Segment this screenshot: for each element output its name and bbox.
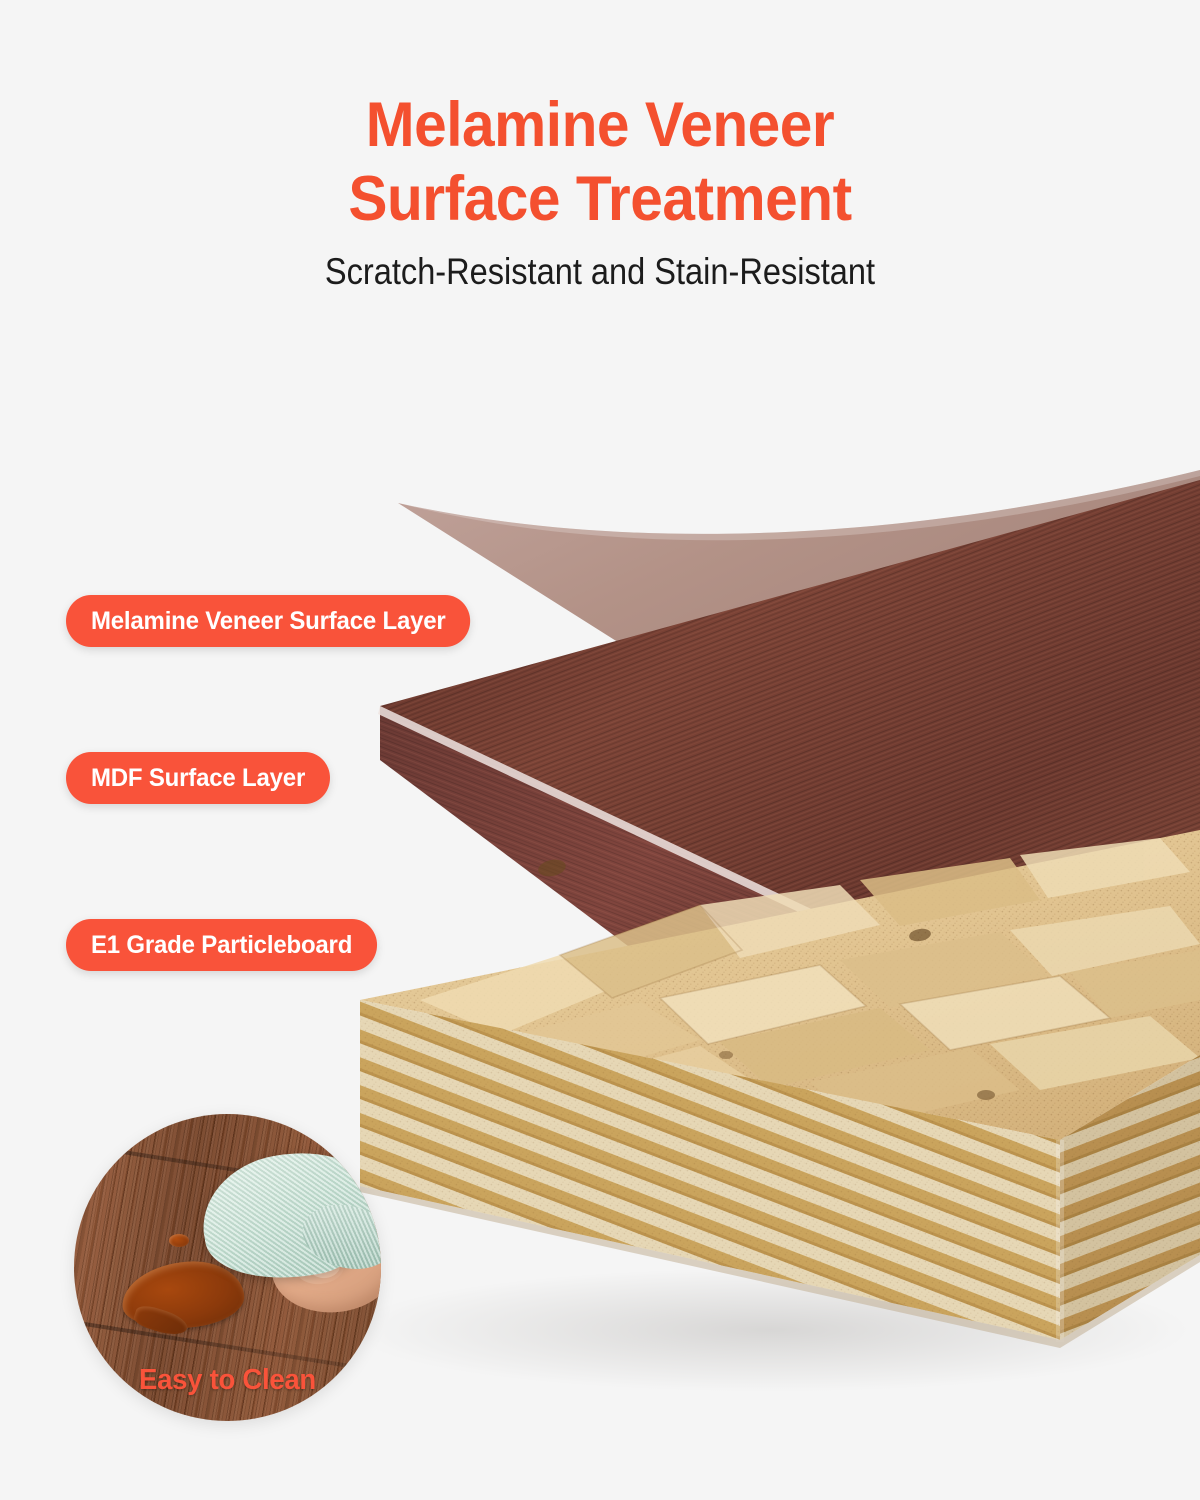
poster-canvas: Melamine VeneerSurface Treatment Scratch… [0,0,1200,1500]
badge-label: MDF Surface Layer [91,764,305,793]
badge-mdf-surface-layer[interactable]: MDF Surface Layer [66,752,330,804]
layer-particleboard-core [360,830,1200,1348]
badge-label: E1 Grade Particleboard [91,931,352,960]
badge-melamine-veneer-surface-layer[interactable]: Melamine Veneer Surface Layer [66,595,471,647]
easy-to-clean-caption: Easy to Clean [82,1364,374,1397]
badge-label: Melamine Veneer Surface Layer [91,607,446,636]
easy-to-clean-inset[interactable]: Easy to Clean [74,1114,381,1421]
badge-e1-grade-particleboard[interactable]: E1 Grade Particleboard [66,919,377,971]
liquid-droplet [169,1234,189,1247]
